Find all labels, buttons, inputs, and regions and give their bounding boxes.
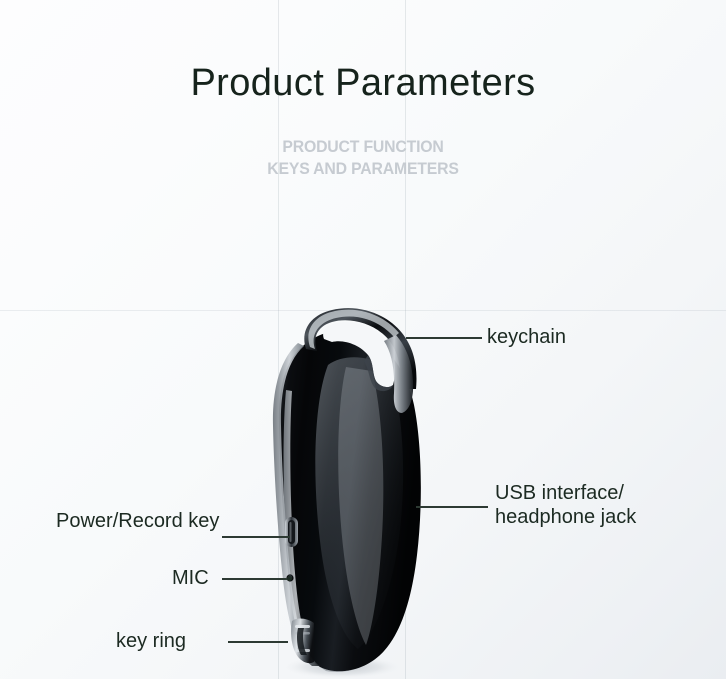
callout-label-power-record-key: Power/Record key (56, 509, 219, 533)
product-image (262, 305, 447, 679)
key-ring-attachment (291, 619, 314, 664)
product-parameters-infographic: Product Parameters PRODUCT FUNCTION KEYS… (0, 0, 726, 679)
page-subtitle-line-2: KEYS AND PARAMETERS (25, 158, 700, 180)
callout-label-key-ring: key ring (116, 629, 186, 653)
page-subtitle-line-1: PRODUCT FUNCTION (25, 136, 700, 158)
power-record-key (285, 517, 298, 547)
leader-line-keychain (406, 337, 482, 339)
leader-line-mic (222, 578, 290, 580)
callout-label-mic: MIC (172, 566, 209, 590)
callout-label-usb: USB interface/ headphone jack (495, 481, 636, 530)
header: Product Parameters PRODUCT FUNCTION KEYS… (0, 62, 726, 181)
page-subtitle: PRODUCT FUNCTION KEYS AND PARAMETERS (25, 136, 700, 181)
page-title: Product Parameters (0, 62, 726, 106)
leader-line-usb (416, 506, 488, 508)
callout-label-keychain: keychain (487, 325, 566, 349)
callout-label-usb-line-1: USB interface/ (495, 481, 636, 505)
leader-dot-mic (287, 576, 292, 581)
leader-line-key-ring (228, 641, 288, 643)
callout-label-usb-line-2: headphone jack (495, 505, 636, 529)
leader-line-power-record-key (222, 536, 290, 538)
